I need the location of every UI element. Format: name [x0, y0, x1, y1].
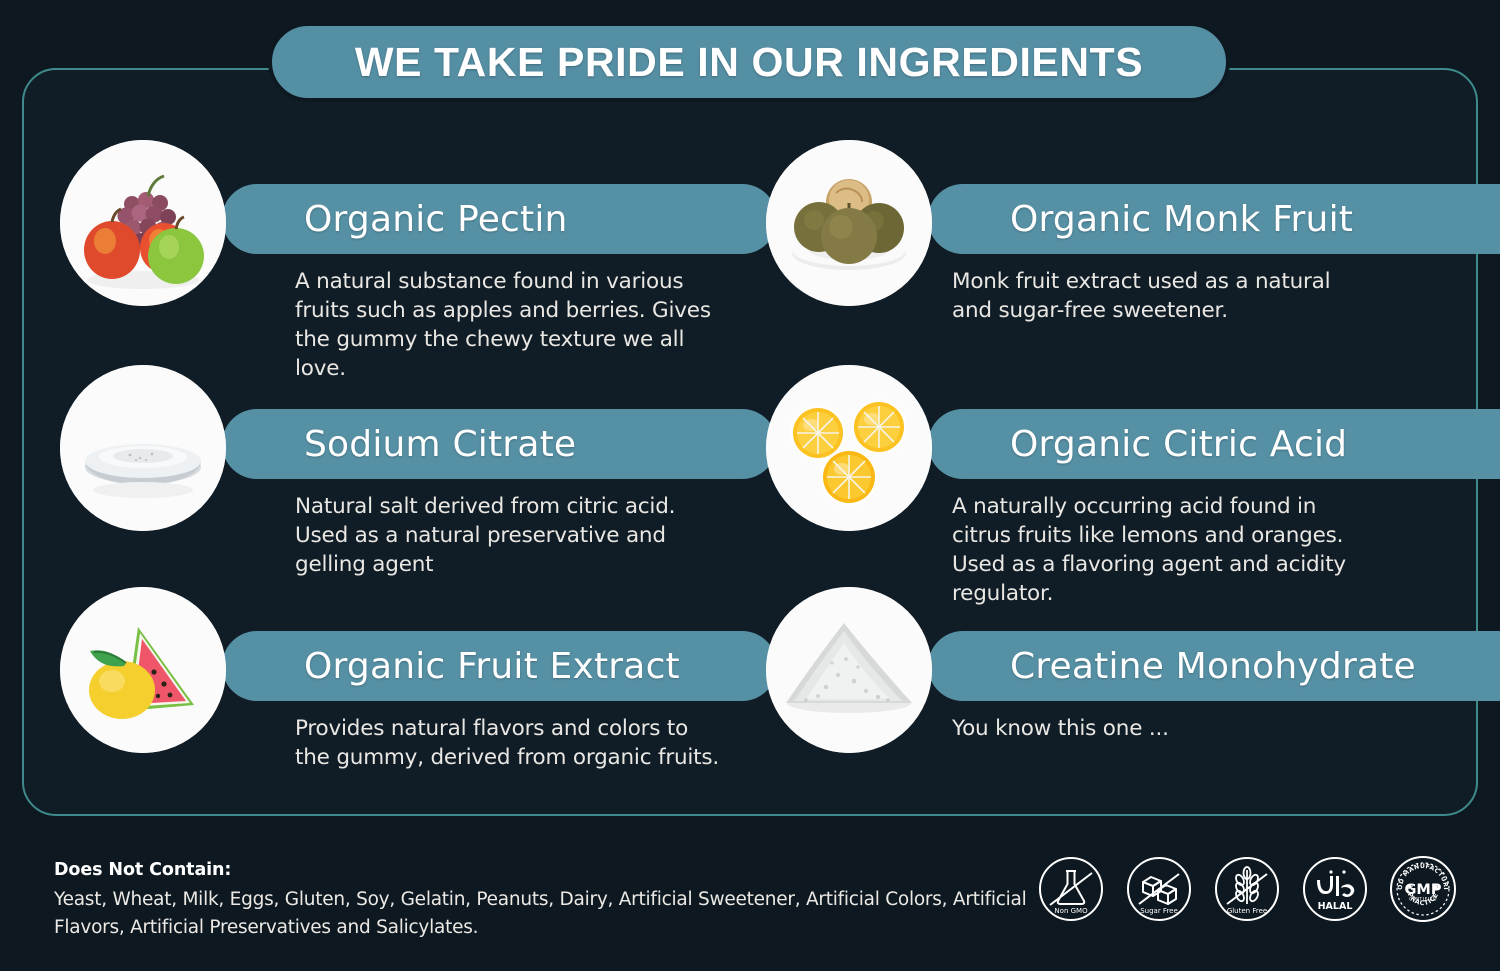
ingredient-name: Creatine Monohydrate: [1010, 646, 1416, 687]
infographic-root: WE TAKE PRIDE IN OUR INGREDIENTS: [0, 0, 1500, 971]
gluten-free-wheat-icon: Gluten Free: [1212, 854, 1282, 924]
gmp-certified-seal-icon: GOOD MANUFACTURING PRACTICE GMP CERTIFIE…: [1388, 854, 1458, 924]
ingredient-description: A naturally occurring acid found in citr…: [952, 492, 1372, 608]
ingredient-name-pill: Organic Fruit Extract: [222, 631, 777, 701]
monk-fruit-on-plate-icon: [766, 140, 932, 306]
ingredient-description: Monk fruit extract used as a natural and…: [952, 267, 1372, 325]
ingredient-name-pill: Organic Citric Acid: [928, 409, 1500, 479]
ingredient-name-pill: Organic Pectin: [222, 184, 777, 254]
ingredient-description: You know this one ...: [952, 714, 1372, 743]
ingredient-name: Organic Fruit Extract: [304, 646, 680, 687]
title-banner: WE TAKE PRIDE IN OUR INGREDIENTS: [268, 22, 1230, 102]
ingredient-description: Natural salt derived from citric acid. U…: [295, 492, 725, 579]
certification-badges: Non GMO Sugar Free: [1036, 854, 1458, 924]
page-title: WE TAKE PRIDE IN OUR INGREDIENTS: [355, 39, 1143, 86]
halal-icon: HALAL: [1300, 854, 1370, 924]
svg-text:Gluten Free: Gluten Free: [1227, 907, 1267, 915]
ingredient-name: Organic Citric Acid: [1010, 424, 1347, 465]
does-not-contain-list: Yeast, Wheat, Milk, Eggs, Gluten, Soy, G…: [54, 886, 1044, 942]
svg-text:HALAL: HALAL: [1318, 901, 1353, 912]
apples-and-grapes-icon: [60, 140, 226, 306]
does-not-contain-block: Does Not Contain: Yeast, Wheat, Milk, Eg…: [54, 860, 1044, 942]
sugar-free-cubes-icon: Sugar Free: [1124, 854, 1194, 924]
ingredient-name-pill: Sodium Citrate: [222, 409, 777, 479]
ingredient-name: Organic Pectin: [304, 199, 568, 240]
white-powder-mound-icon: [766, 587, 932, 753]
ingredient-name: Organic Monk Fruit: [1010, 199, 1353, 240]
svg-text:Non GMO: Non GMO: [1054, 907, 1088, 915]
ingredient-description: A natural substance found in various fru…: [295, 267, 725, 383]
ingredient-name-pill: Creatine Monohydrate: [928, 631, 1500, 701]
citrus-slices-icon: [766, 365, 932, 531]
footer: Does Not Contain: Yeast, Wheat, Milk, Eg…: [0, 838, 1500, 971]
svg-text:CERTIFIED: CERTIFIED: [1409, 897, 1437, 903]
mango-and-watermelon-icon: [60, 587, 226, 753]
ingredient-name: Sodium Citrate: [304, 424, 576, 465]
white-salt-dish-icon: [60, 365, 226, 531]
svg-text:Sugar Free: Sugar Free: [1140, 907, 1178, 915]
ingredient-name-pill: Organic Monk Fruit: [928, 184, 1500, 254]
non-gmo-flask-icon: Non GMO: [1036, 854, 1106, 924]
ingredient-grid: Organic Pectin A natural substance found…: [0, 118, 1500, 818]
does-not-contain-label: Does Not Contain:: [54, 860, 1044, 880]
ingredient-description: Provides natural flavors and colors to t…: [295, 714, 725, 772]
